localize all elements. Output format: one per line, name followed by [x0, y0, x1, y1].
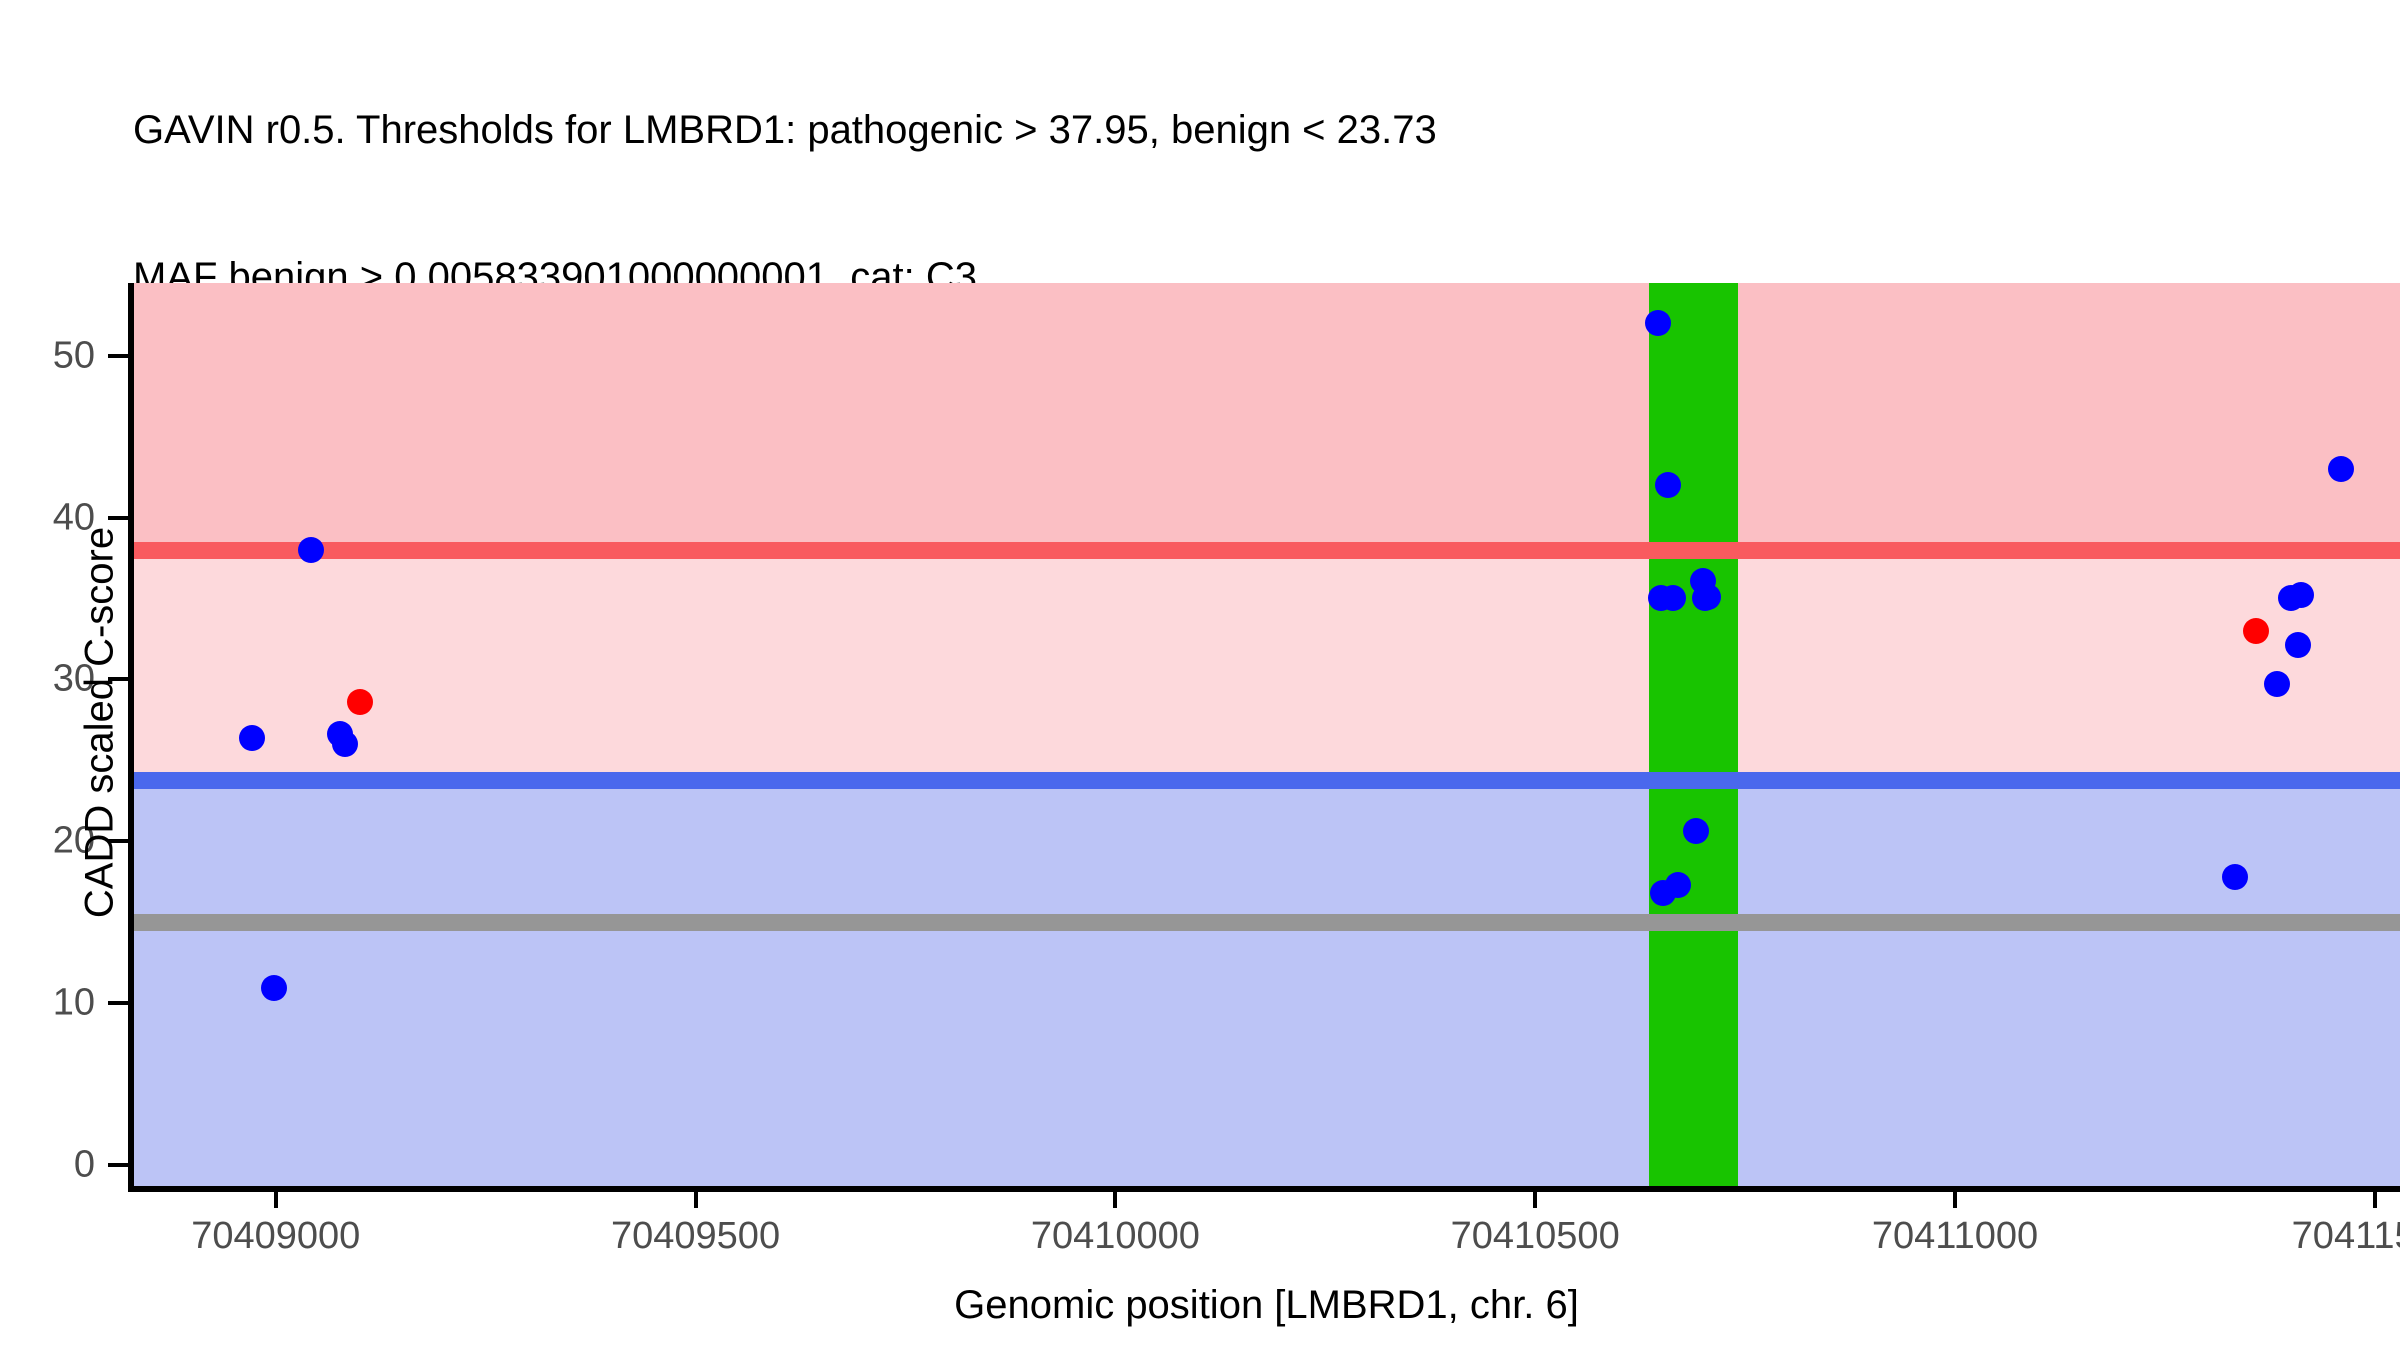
exon-band — [1649, 283, 1738, 1189]
x-tick-label: 70411500 — [2292, 1215, 2400, 1258]
band-pathogenic-region — [133, 283, 2400, 551]
x-tick — [1953, 1192, 1957, 1208]
data-point — [1645, 310, 1671, 336]
x-tick — [1113, 1192, 1117, 1208]
data-point — [1655, 472, 1681, 498]
fallback-threshold-line — [133, 914, 2400, 931]
data-point — [2285, 632, 2311, 658]
x-tick-label: 70409000 — [191, 1215, 360, 1258]
chart-page: GAVIN r0.5. Thresholds for LMBRD1: patho… — [0, 0, 2400, 1350]
benign-threshold-line — [133, 772, 2400, 789]
x-axis-title: Genomic position [LMBRD1, chr. 6] — [133, 1283, 2400, 1328]
data-point — [2278, 585, 2304, 611]
x-tick — [274, 1192, 278, 1208]
pathogenic-threshold-line — [133, 542, 2400, 559]
band-benign-region — [133, 781, 2400, 1189]
band-vous-region — [133, 551, 2400, 781]
x-tick-label: 70409500 — [611, 1215, 780, 1258]
x-axis-line — [133, 1186, 2400, 1192]
data-point — [1660, 585, 1686, 611]
x-tick-label: 70410500 — [1451, 1215, 1620, 1258]
data-point — [239, 725, 265, 751]
y-axis-line — [128, 283, 134, 1192]
data-point — [2264, 671, 2290, 697]
title-line-1: GAVIN r0.5. Thresholds for LMBRD1: patho… — [133, 106, 2233, 155]
data-point — [2243, 618, 2269, 644]
data-point — [1692, 585, 1718, 611]
data-point — [261, 975, 287, 1001]
data-point — [347, 689, 373, 715]
data-point — [1665, 872, 1691, 898]
x-tick-label: 70411000 — [1872, 1215, 2038, 1258]
x-tick — [1533, 1192, 1537, 1208]
x-tick — [694, 1192, 698, 1208]
data-point — [2222, 864, 2248, 890]
data-point — [332, 731, 358, 757]
x-tick — [2373, 1192, 2377, 1208]
data-point — [2328, 456, 2354, 482]
data-point — [298, 537, 324, 563]
y-axis-title: CADD scaled C-score — [78, 263, 123, 1183]
x-tick-label: 70410000 — [1031, 1215, 1200, 1258]
data-point — [1683, 818, 1709, 844]
plot-panel — [133, 283, 2400, 1189]
